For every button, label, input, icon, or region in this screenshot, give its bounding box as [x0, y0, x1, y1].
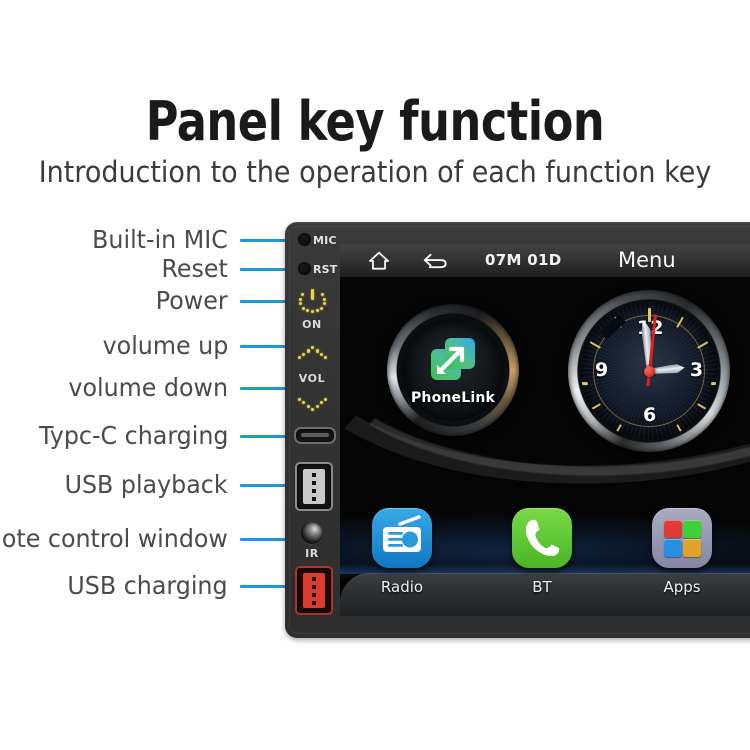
- usb-a-port-icon[interactable]: [295, 462, 333, 511]
- mic-label: MIC: [313, 234, 337, 247]
- ir-sensor-icon: [301, 522, 323, 544]
- usb-c-port-icon[interactable]: [294, 427, 336, 444]
- phonelink-label: PhoneLink: [387, 390, 519, 406]
- dock-label-radio: Radio: [350, 578, 454, 596]
- radio-icon: [372, 508, 432, 568]
- device-left-bezel: MIC RST ON VOL: [285, 222, 340, 638]
- callout-usb-charging: USB charging: [68, 571, 228, 600]
- dock-app-apps[interactable]: Apps: [652, 508, 712, 568]
- device-touchscreen[interactable]: 07M 01D Menu: [340, 244, 750, 616]
- dock-app-radio[interactable]: Radio: [372, 508, 432, 568]
- app-grid-icon: [652, 508, 712, 568]
- screen-wallpaper: PhoneLink: [340, 277, 750, 616]
- chevron-up-icon[interactable]: [298, 346, 326, 360]
- dock-app-bt[interactable]: BT: [512, 508, 572, 568]
- microphone-dot-icon: [298, 233, 311, 246]
- callout-built-in-mic: Built-in MIC: [92, 225, 228, 254]
- clock-numeral-3: 3: [690, 359, 703, 381]
- clock-widget[interactable]: 12 3 6 9: [568, 290, 730, 452]
- callout-type-c-charging: Typc-C charging: [38, 421, 228, 450]
- ir-label: IR: [289, 547, 335, 560]
- status-date: 07M 01D: [485, 251, 561, 269]
- callout-usb-playback: USB playback: [65, 470, 228, 499]
- callout-reset: Reset: [162, 254, 228, 283]
- callout-power: Power: [156, 286, 228, 315]
- home-icon[interactable]: [368, 251, 390, 270]
- clock-tick: [711, 383, 717, 386]
- reset-label: RST: [313, 263, 338, 276]
- dock-label-apps: Apps: [630, 578, 734, 596]
- car-stereo-device: MIC RST ON VOL: [285, 222, 750, 638]
- reset-pinhole-icon[interactable]: [298, 262, 311, 275]
- usb-a-red-port-icon[interactable]: [295, 566, 333, 615]
- phonelink-widget[interactable]: PhoneLink: [387, 304, 519, 436]
- callout-volume-down: volume down: [68, 373, 228, 402]
- volume-label: VOL: [289, 372, 335, 385]
- screen-status-bar: 07M 01D Menu: [340, 244, 750, 278]
- page-title: Panel key function: [30, 90, 720, 153]
- phone-handset-icon: [512, 508, 572, 568]
- clock-center-pin: [644, 366, 655, 377]
- page-subtitle: Introduction to the operation of each fu…: [26, 155, 724, 189]
- power-icon[interactable]: [299, 288, 325, 314]
- callout-volume-up: volume up: [102, 331, 228, 360]
- clock-numeral-6: 6: [643, 404, 656, 426]
- clock-tick: [581, 383, 587, 386]
- chevron-down-icon[interactable]: [298, 397, 326, 411]
- menu-button[interactable]: Menu: [618, 248, 676, 272]
- power-on-label: ON: [289, 318, 335, 331]
- page-root: Panel key function Introduction to the o…: [0, 0, 750, 750]
- screen-share-arrow-icon: [428, 334, 478, 384]
- callout-remote-control-window: Remote control window: [0, 524, 228, 553]
- clock-face: 12 3 6 9: [581, 303, 717, 439]
- back-arrow-icon[interactable]: [422, 253, 448, 269]
- dock-label-bt: BT: [490, 578, 594, 596]
- clock-numeral-9: 9: [595, 359, 608, 381]
